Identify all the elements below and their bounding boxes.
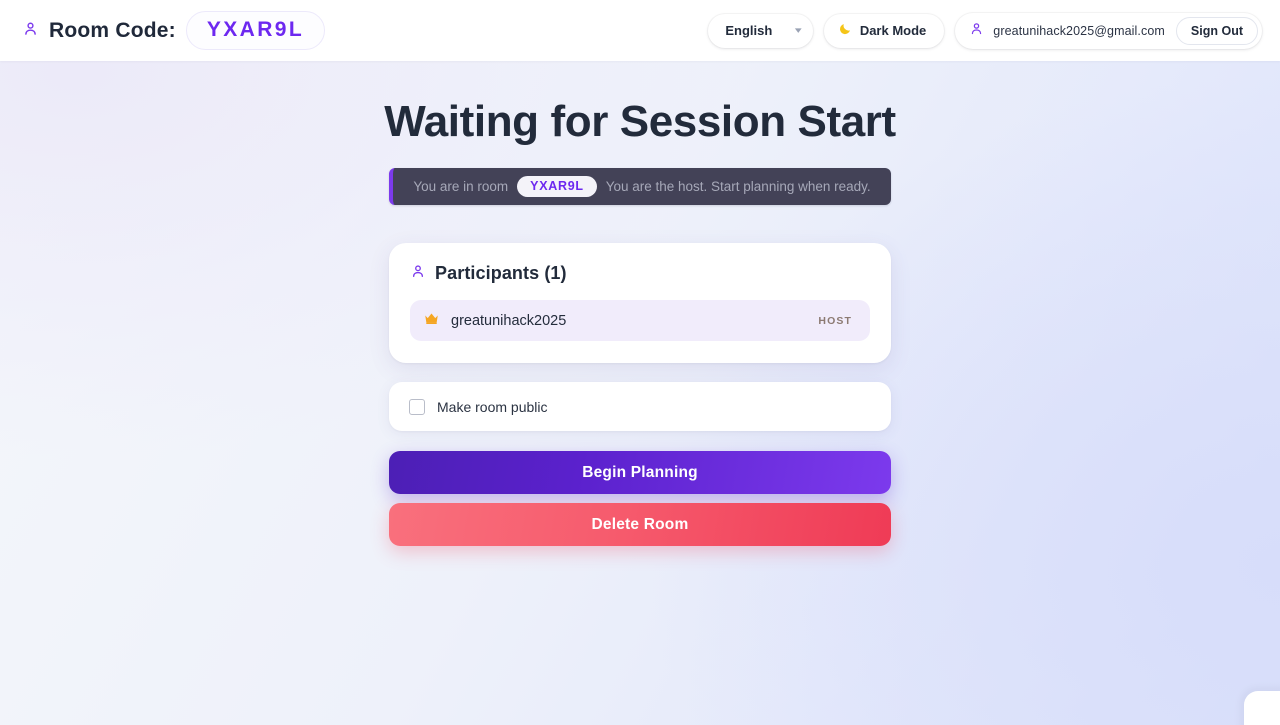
language-selector[interactable]: English ▾: [708, 14, 812, 48]
banner-room-code: YXAR9L: [517, 176, 597, 198]
main-content: Waiting for Session Start You are in roo…: [0, 61, 1280, 546]
user-email: greatunihack2025@gmail.com: [993, 24, 1165, 38]
banner-text-before: You are in room: [413, 179, 508, 194]
room-code-label: Room Code:: [49, 19, 176, 43]
corner-floating-panel[interactable]: [1244, 691, 1280, 725]
participants-header: Participants (1): [410, 263, 870, 284]
make-room-public-row[interactable]: Make room public: [389, 382, 891, 431]
participants-title: Participants (1): [435, 263, 567, 284]
person-icon: [22, 20, 39, 42]
user-account-pill: greatunihack2025@gmail.com Sign Out: [955, 13, 1262, 49]
content-column: You are in room YXAR9L You are the host.…: [389, 168, 891, 546]
dark-mode-toggle[interactable]: Dark Mode: [824, 14, 944, 48]
language-selected-label: English: [725, 23, 772, 38]
make-room-public-label: Make room public: [437, 399, 548, 415]
room-status-banner: You are in room YXAR9L You are the host.…: [389, 168, 891, 205]
banner-text-after: You are the host. Start planning when re…: [606, 179, 871, 194]
list-item[interactable]: greatunihack2025 HOST: [410, 300, 870, 341]
header-left-group: Room Code: YXAR9L: [22, 11, 325, 50]
participant-name: greatunihack2025: [451, 313, 806, 329]
app-header: Room Code: YXAR9L English ▾ Dark Mode gr: [0, 0, 1280, 61]
dark-mode-label: Dark Mode: [860, 23, 926, 38]
begin-planning-button[interactable]: Begin Planning: [389, 451, 891, 494]
header-right-group: English ▾ Dark Mode greatunihack2025@gma…: [708, 13, 1262, 49]
status-badge: HOST: [818, 315, 852, 327]
make-room-public-checkbox[interactable]: [409, 399, 425, 415]
person-icon: [410, 263, 426, 284]
sign-out-button[interactable]: Sign Out: [1176, 17, 1258, 45]
chevron-down-icon: ▾: [795, 26, 802, 35]
moon-icon: [838, 22, 852, 39]
delete-room-button[interactable]: Delete Room: [389, 503, 891, 546]
person-icon: [969, 21, 984, 41]
crown-icon: [424, 312, 439, 330]
page-title: Waiting for Session Start: [384, 97, 896, 147]
room-code-value: YXAR9L: [186, 11, 325, 50]
participants-card: Participants (1) greatunihack2025 HOST: [389, 243, 891, 363]
